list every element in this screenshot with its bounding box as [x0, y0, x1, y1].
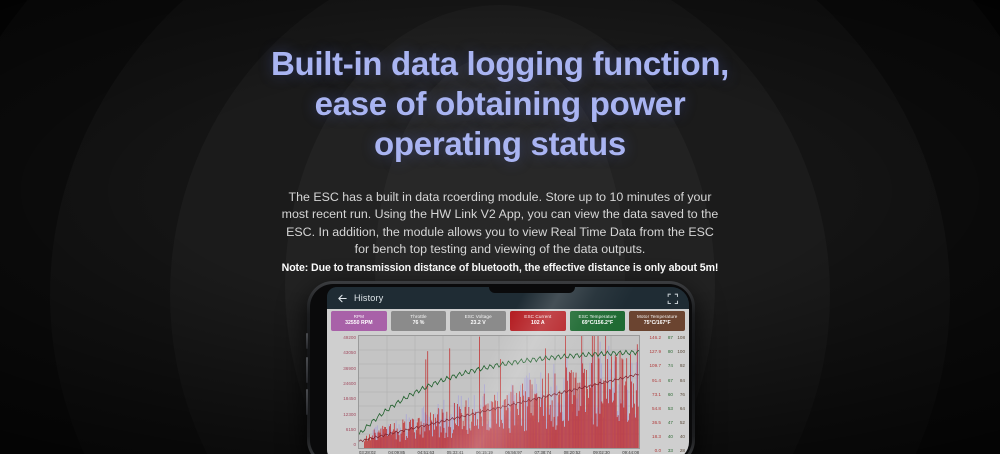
y-axis-right-tick-row: 73.16076 [643, 393, 685, 398]
chart-canvas [359, 336, 639, 448]
phone-volume-up-button[interactable] [306, 357, 309, 383]
y-axis-right-tick: 100 [674, 350, 685, 355]
y-axis-left-tick: 36900 [330, 367, 356, 372]
y-axis-right-tick-row: 54.85364 [643, 407, 685, 412]
chip-value: 69°C/156.2°F [582, 321, 613, 326]
y-axis-left-tick: 24600 [330, 382, 356, 387]
telemetry-chip-motor-temperature[interactable]: Motor Temperature75°C/167°F [629, 311, 685, 331]
y-axis-right-tick: 109.7 [643, 364, 661, 369]
headline-line-1: Built-in data logging function, [0, 44, 1000, 84]
y-axis-right-tick: 53 [662, 407, 673, 412]
y-axis-left-tick: 18450 [330, 397, 356, 402]
y-axis-left-tick: 43050 [330, 351, 356, 356]
y-axis-right-tick: 80 [662, 350, 673, 355]
app-screen-title: History [354, 293, 383, 303]
y-axis-right-tick: 146.2 [643, 336, 661, 341]
y-axis-right-tick: 67 [662, 379, 673, 384]
y-axis-right-tick: 52 [674, 421, 685, 426]
chart-y-axis-left: 49200430503690024600184501230061500 [330, 335, 358, 454]
y-axis-right-tick: 74 [662, 364, 673, 369]
chart-plot-area[interactable] [358, 335, 640, 449]
chip-label: Throttle [410, 315, 426, 320]
y-axis-right-tick-row: 127.980100 [643, 350, 685, 355]
y-axis-right-tick: 47 [662, 421, 673, 426]
phone-mute-switch[interactable] [306, 333, 309, 349]
y-axis-right-tick: 40 [662, 435, 673, 440]
y-axis-right-tick: 64 [674, 407, 685, 412]
y-axis-right-tick-row: 146.287108 [643, 336, 685, 341]
headline-line-3: operating status [0, 124, 1000, 164]
y-axis-right-tick: 127.9 [643, 350, 661, 355]
phone-screen: History RPM32550 RPMThrottle76 %ESC Volt… [327, 287, 689, 454]
telemetry-chip-esc-current[interactable]: ESC Current102 A [510, 311, 566, 331]
chart-plot-column: 03:28:0204:09:8504:51:6305:33:4106:15:19… [358, 335, 640, 454]
y-axis-right-tick: 87 [662, 336, 673, 341]
phone-mockup: History RPM32550 RPMThrottle76 %ESC Volt… [307, 281, 695, 454]
telemetry-chip-rpm[interactable]: RPM32550 RPM [331, 311, 387, 331]
bluetooth-note: Note: Due to transmission distance of bl… [280, 261, 720, 276]
y-axis-right-tick: 92 [674, 364, 685, 369]
y-axis-right-tick: 108 [674, 336, 685, 341]
chip-label: RPM [354, 315, 365, 320]
telemetry-chip-esc-voltage[interactable]: ESC Voltage23.2 V [450, 311, 506, 331]
y-axis-left-tick: 0 [330, 443, 356, 448]
chart-x-axis: 03:28:0204:09:8504:51:6305:33:4106:15:19… [358, 449, 640, 454]
y-axis-right-tick: 54.8 [643, 407, 661, 412]
y-axis-right-tick: 28 [674, 449, 685, 454]
y-axis-right-tick-row: 18.34040 [643, 435, 685, 440]
chip-value: 102 A [531, 321, 545, 326]
chip-value: 76 % [413, 321, 425, 326]
back-arrow-icon[interactable] [337, 293, 348, 304]
y-axis-right-tick: 76 [674, 393, 685, 398]
y-axis-right-tick: 0.0 [643, 449, 661, 454]
page-title: Built-in data logging function, ease of … [0, 44, 1000, 164]
y-axis-right-tick: 91.4 [643, 379, 661, 384]
phone-volume-down-button[interactable] [306, 389, 309, 415]
telemetry-chip-throttle[interactable]: Throttle76 % [391, 311, 447, 331]
chip-label: ESC Current [524, 315, 551, 320]
promo-banner: Built-in data logging function, ease of … [0, 0, 1000, 454]
description-block: The ESC has a built in data rcoerding mo… [280, 189, 720, 276]
telemetry-chip-esc-temperature[interactable]: ESC Temperature69°C/156.2°F [570, 311, 626, 331]
y-axis-right-tick-row: 36.54752 [643, 421, 685, 426]
phone-notch [489, 287, 575, 293]
y-axis-right-tick: 18.3 [643, 435, 661, 440]
y-axis-right-tick: 60 [662, 393, 673, 398]
y-axis-right-tick: 33 [662, 449, 673, 454]
y-axis-right-tick: 36.5 [643, 421, 661, 426]
fullscreen-expand-icon[interactable] [667, 292, 681, 304]
chart-y-axis-right: 146.287108127.980100109.7749291.4678473.… [640, 335, 686, 454]
telemetry-chip-row: RPM32550 RPMThrottle76 %ESC Voltage23.2 … [327, 309, 689, 333]
y-axis-right-tick-row: 109.77492 [643, 364, 685, 369]
y-axis-right-tick-row: 91.46784 [643, 379, 685, 384]
chip-value: 23.2 V [471, 321, 486, 326]
y-axis-right-tick: 73.1 [643, 393, 661, 398]
chip-label: Motor Temperature [637, 315, 677, 320]
chip-value: 32550 RPM [345, 321, 372, 326]
headline-line-2: ease of obtaining power [0, 84, 1000, 124]
chip-label: ESC Temperature [579, 315, 617, 320]
y-axis-left-tick: 6150 [330, 428, 356, 433]
description-paragraph: The ESC has a built in data rcoerding mo… [282, 190, 719, 256]
y-axis-left-tick: 12300 [330, 413, 356, 418]
history-chart: 49200430503690024600184501230061500 03:2… [327, 333, 689, 454]
y-axis-left-tick: 49200 [330, 336, 356, 341]
y-axis-right-tick-row: 0.03328 [643, 449, 685, 454]
y-axis-right-tick: 40 [674, 435, 685, 440]
y-axis-right-tick: 84 [674, 379, 685, 384]
chip-label: ESC Voltage [465, 315, 492, 320]
chip-value: 75°C/167°F [644, 321, 671, 326]
